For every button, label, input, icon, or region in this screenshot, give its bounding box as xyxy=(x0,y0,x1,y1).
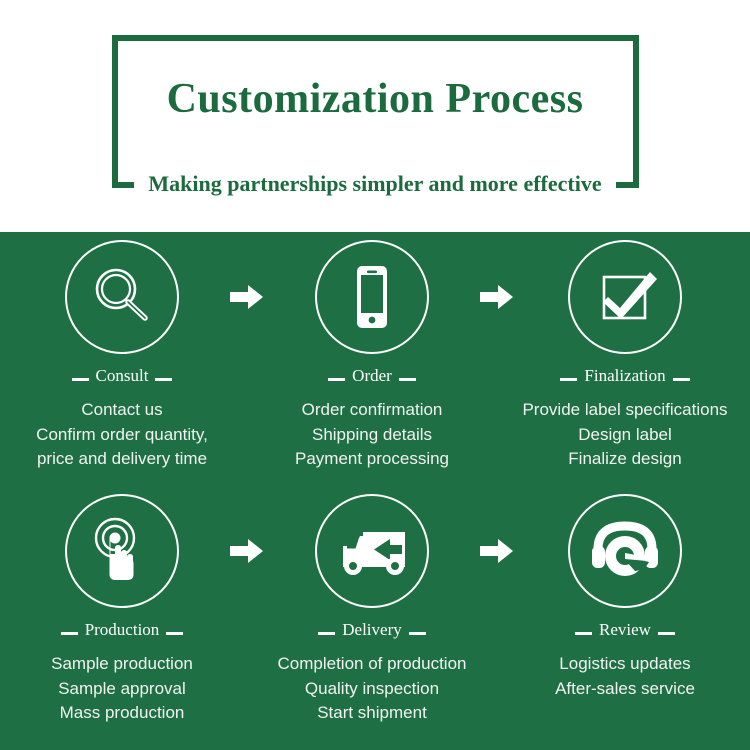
description-line: Shipping details xyxy=(295,423,449,448)
process-row-1: Consult Contact us Confirm order quantit… xyxy=(0,240,750,472)
step-label: Delivery xyxy=(342,621,401,638)
label-dash-left xyxy=(61,632,78,635)
process-step-consult[interactable]: Consult Contact us Confirm order quantit… xyxy=(25,240,219,472)
step-label: Review xyxy=(599,621,651,638)
description-line: Logistics updates xyxy=(555,652,695,677)
step-label: Order xyxy=(352,367,392,384)
step-icon-circle xyxy=(568,494,682,608)
step-description: Logistics updates After-sales service xyxy=(555,652,695,701)
description-line: Start shipment xyxy=(277,701,466,726)
process-step-review[interactable]: Review Logistics updates After-sales ser… xyxy=(525,494,725,701)
page-subtitle: Making partnerships simpler and more eff… xyxy=(0,173,750,195)
headset-icon xyxy=(587,516,663,586)
description-line: price and delivery time xyxy=(36,447,208,472)
step-label: Consult xyxy=(96,367,149,384)
arrow-connector xyxy=(469,494,525,564)
delivery-truck-icon xyxy=(333,514,411,588)
page-title: Customization Process xyxy=(0,78,750,120)
step-icon-circle xyxy=(315,494,429,608)
process-step-finalization[interactable]: Finalization Provide label specification… xyxy=(525,240,725,472)
description-line: Payment processing xyxy=(295,447,449,472)
label-dash-left xyxy=(318,632,335,635)
description-line: Design label xyxy=(522,423,727,448)
step-label-group: Review xyxy=(575,621,675,638)
step-description: Contact us Confirm order quantity, price… xyxy=(36,398,208,472)
touch-hand-icon xyxy=(85,514,159,588)
process-step-order[interactable]: Order Order confirmation Shipping detail… xyxy=(275,240,469,472)
step-label-group: Finalization xyxy=(560,367,689,384)
description-line: Completion of production xyxy=(277,652,466,677)
page-subtitle-text: Making partnerships simpler and more eff… xyxy=(134,173,615,195)
step-icon-circle xyxy=(65,240,179,354)
arrow-connector xyxy=(219,240,275,310)
label-dash-right xyxy=(155,378,172,381)
description-line: After-sales service xyxy=(555,677,695,702)
arrow-right-icon xyxy=(230,538,264,564)
description-line: Mass production xyxy=(51,701,193,726)
step-description: Sample production Sample approval Mass p… xyxy=(51,652,193,726)
label-dash-right xyxy=(399,378,416,381)
label-dash-right xyxy=(166,632,183,635)
step-label: Production xyxy=(85,621,160,638)
step-icon-circle xyxy=(65,494,179,608)
checkbox-check-icon xyxy=(588,260,662,334)
step-label-group: Consult xyxy=(72,367,173,384)
step-description: Order confirmation Shipping details Paym… xyxy=(295,398,449,472)
description-line: Contact us xyxy=(36,398,208,423)
label-dash-left xyxy=(72,378,89,381)
step-label: Finalization xyxy=(584,367,665,384)
step-icon-circle xyxy=(315,240,429,354)
label-dash-left xyxy=(560,378,577,381)
label-dash-left xyxy=(575,632,592,635)
arrow-right-icon xyxy=(230,284,264,310)
label-dash-right xyxy=(658,632,675,635)
arrow-connector xyxy=(219,494,275,564)
step-icon-circle xyxy=(568,240,682,354)
step-label-group: Order xyxy=(328,367,416,384)
arrow-right-icon xyxy=(480,284,514,310)
infographic-poster: Customization Process Making partnership… xyxy=(0,0,750,750)
header-section: Customization Process Making partnership… xyxy=(0,0,750,232)
step-label-group: Production xyxy=(61,621,184,638)
description-line: Quality inspection xyxy=(277,677,466,702)
step-description: Provide label specifications Design labe… xyxy=(522,398,727,472)
step-description: Completion of production Quality inspect… xyxy=(277,652,466,726)
arrow-right-icon xyxy=(480,538,514,564)
description-line: Confirm order quantity, xyxy=(36,423,208,448)
description-line: Finalize design xyxy=(522,447,727,472)
description-line: Sample production xyxy=(51,652,193,677)
label-dash-right xyxy=(409,632,426,635)
frame-top-border xyxy=(112,35,639,41)
process-step-production[interactable]: Production Sample production Sample appr… xyxy=(25,494,219,726)
process-row-2: Production Sample production Sample appr… xyxy=(0,494,750,726)
label-dash-left xyxy=(328,378,345,381)
step-label-group: Delivery xyxy=(318,621,425,638)
description-line: Sample approval xyxy=(51,677,193,702)
smartphone-icon xyxy=(335,260,409,334)
description-line: Provide label specifications xyxy=(522,398,727,423)
description-line: Order confirmation xyxy=(295,398,449,423)
process-step-delivery[interactable]: Delivery Completion of production Qualit… xyxy=(275,494,469,726)
label-dash-right xyxy=(673,378,690,381)
process-panel: Consult Contact us Confirm order quantit… xyxy=(0,232,750,750)
magnifier-icon xyxy=(85,260,159,334)
arrow-connector xyxy=(469,240,525,310)
